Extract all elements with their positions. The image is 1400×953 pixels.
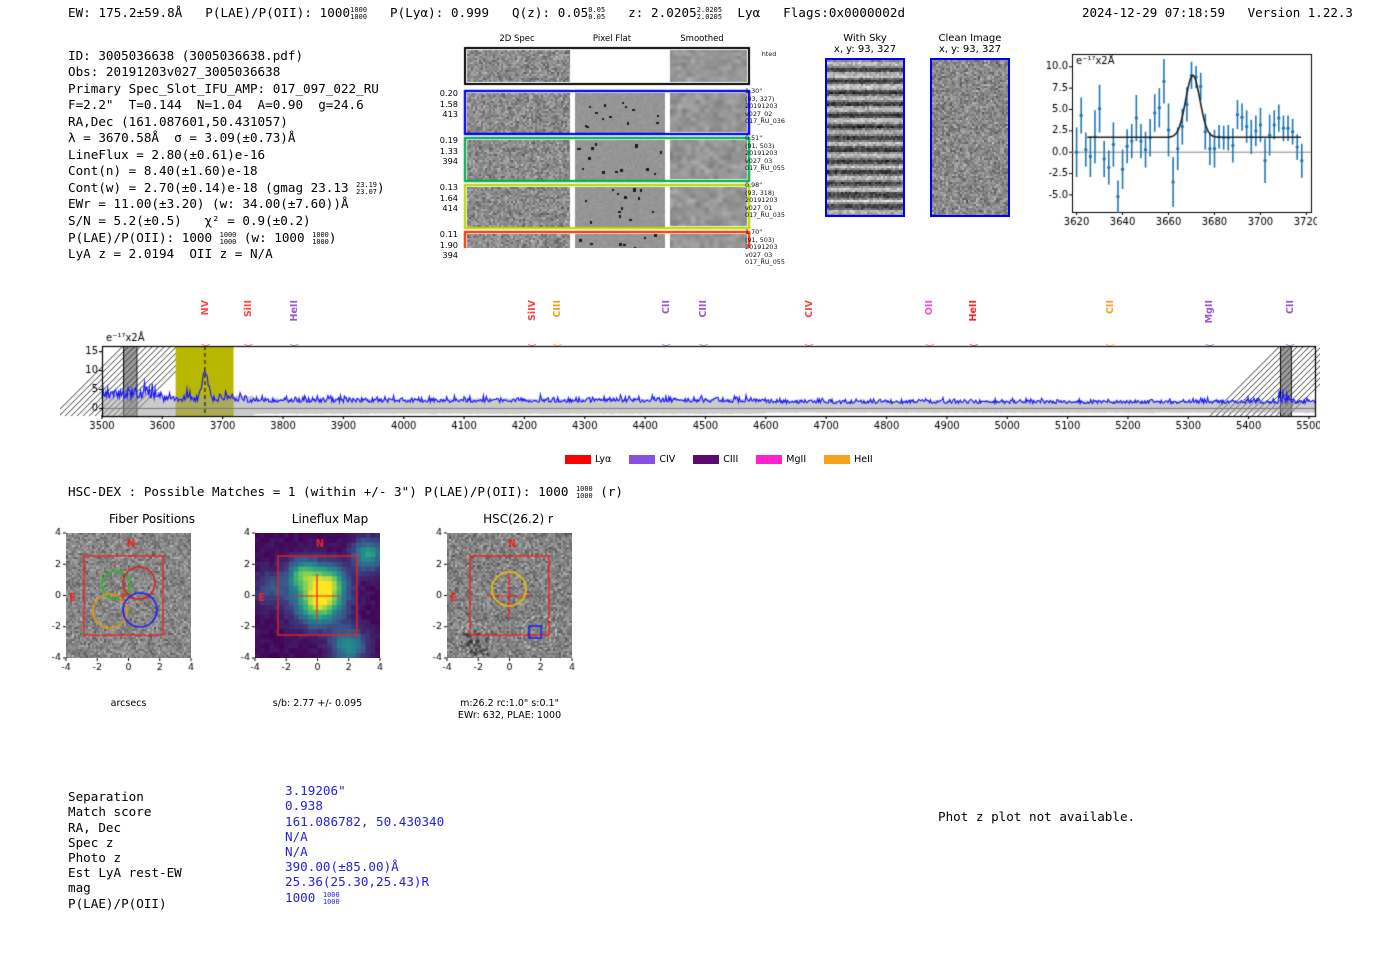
hscdex-post: (r) — [593, 484, 623, 499]
match-label-1: Match score — [68, 804, 151, 819]
info-line-7: Cont(n) = 8.40(±1.60)e-18 — [68, 163, 258, 178]
emission-bracket-5: ⏝ — [662, 336, 671, 346]
row-2-numbers: 0.13 1.64 414 — [418, 182, 458, 214]
lineflux-map-caption: s/b: 2.77 +/- 0.095 — [255, 698, 380, 709]
header-z-fraction: 2.02052.0205 — [697, 7, 722, 21]
fiber-positions-caption: arcsecs — [66, 698, 191, 709]
header-summary-line: EW: 175.2±59.8Å P(LAE)/P(OII): 100010001… — [68, 5, 905, 21]
detection-info-block: ID: 3005036638 (3005036638.pdf) Obs: 201… — [68, 31, 385, 263]
match-value-5: 390.00(±85.00)Å — [285, 859, 399, 874]
match-label-5: Est LyA rest-EW — [68, 865, 182, 880]
match-label-6: mag — [68, 880, 91, 895]
emission-bracket-3: ⏝ — [528, 336, 537, 346]
row-0-meta: 1.30" (93, 327) 20191203 v027_02 017_RU_… — [745, 88, 785, 126]
hscdex-summary: HSC-DEX : Possible Matches = 1 (within +… — [68, 484, 623, 500]
legend-item-lyα: Lyα — [565, 449, 611, 468]
header-qz-fraction: 0.050.05 — [588, 7, 605, 21]
legend-item-mgii: MgII — [756, 449, 806, 468]
spec2d-images — [462, 44, 762, 248]
emission-label-siiv-3: SiIV — [527, 300, 538, 321]
header-plya: P(Lyα): 0.999 — [390, 5, 489, 20]
emission-label-mgii-11: MgII — [1204, 300, 1215, 323]
emission-bracket-8: ⏝ — [925, 336, 934, 346]
header-ew: EW: 175.2±59.8Å — [68, 5, 182, 20]
header-plae-fraction: 10001000 — [350, 7, 367, 21]
legend-label-ciii: CIII — [723, 454, 738, 465]
legend-item-heii: HeII — [824, 449, 873, 468]
match-label-7: P(LAE)/P(OII) — [68, 896, 167, 911]
match-value-7: 1000 10001000 — [285, 890, 340, 905]
emission-label-ciii-6: CIII — [698, 300, 709, 318]
info-line-5: λ = 3670.58Å σ = 3.09(±0.73)Å — [68, 130, 295, 145]
with-sky-title: With Sky — [820, 33, 910, 44]
info-line-1: Obs: 20191203v027_3005036638 — [68, 64, 280, 79]
info-plae-fraction-1: 10001000 — [220, 232, 237, 246]
emission-label-oii-8: OII — [924, 300, 935, 315]
emission-bracket-2: ⏝ — [290, 336, 299, 346]
match-label-0: Separation — [68, 789, 144, 804]
match-value-4: N/A — [285, 844, 308, 859]
legend-swatch-civ — [629, 455, 655, 464]
hsc-r-caption: m:26.2 rc:1.0" s:0.1" — [447, 698, 572, 709]
emission-bracket-9: ⏝ — [969, 336, 978, 346]
legend-swatch-ciii — [693, 455, 719, 464]
clean-image-image — [930, 58, 1010, 217]
cutout-axes — [50, 512, 620, 712]
with-sky-image — [825, 58, 905, 217]
match-value-0: 3.19206" — [285, 783, 346, 798]
emission-bracket-12: ⏝ — [1286, 336, 1295, 346]
match-label-4: Photo z — [68, 850, 121, 865]
header-version: Version 1.22.3 — [1248, 5, 1353, 20]
row-0-numbers: 0.20 1.58 413 — [418, 88, 458, 120]
match-value-1: 0.938 — [285, 798, 323, 813]
header-flags: Flags:0x0000002d — [783, 5, 905, 20]
header-qz-label: Q(z): 0.05 — [512, 5, 588, 20]
info-sn: S/N = 5.2(±0.5) χ² = 0.9(±0.2) — [68, 213, 311, 228]
spec2d-panel-group: 2D Spec Pixel Flat Smoothed Weighted Sum — [462, 34, 762, 248]
with-sky-cutout: With Sky x, y: 93, 327 — [820, 33, 910, 217]
emission-label-cii-10: CII — [1105, 300, 1116, 314]
emission-line-zoom-canvas — [1032, 48, 1317, 238]
match-table-values: 3.19206" 0.938 161.086782, 50.430340 N/A… — [285, 768, 444, 906]
match-label-2: RA, Dec — [68, 820, 121, 835]
legend-swatch-lyα — [565, 455, 591, 464]
emission-bracket-0: ⏝ — [201, 336, 210, 346]
hscdex-pre: HSC-DEX : Possible Matches = 1 (within +… — [68, 484, 576, 499]
info-cont-w: Cont(w) = 2.70(±0.14)e-18 (gmag 23.13 23… — [68, 180, 385, 195]
emission-bracket-4: ⏝ — [553, 336, 562, 346]
photz-message: Phot z plot not available. — [938, 809, 1135, 824]
row-2-meta: 0.98" (93, 318) 20191203 v027_01 017_RU_… — [745, 182, 785, 220]
info-ewr: EWr = 11.00(±3.20) (w: 34.00(±7.60))Å — [68, 196, 349, 211]
clean-image-title: Clean Image — [925, 33, 1015, 44]
emission-label-heii-2: HeII — [289, 300, 300, 321]
info-line-3: F=2.2" T=0.144 N=1.04 A=0.90 g=24.6 — [68, 97, 364, 112]
clean-image-xy: x, y: 93, 327 — [925, 44, 1015, 55]
emission-label-cii-5: CII — [661, 300, 672, 314]
emission-bracket-11: ⏝ — [1205, 336, 1214, 346]
spec2d-col-title-smoothed: Smoothed — [647, 34, 757, 44]
header-plae-label: P(LAE)/P(OII): 1000 — [205, 5, 350, 20]
emission-bracket-7: ⏝ — [805, 336, 814, 346]
legend-swatch-heii — [824, 455, 850, 464]
match-label-3: Spec z — [68, 835, 114, 850]
emission-bracket-6: ⏝ — [699, 336, 708, 346]
full-spectrum-plot: NV⏝SiII⏝HeII⏝SiIV⏝CIII⏝CII⏝CIII⏝CIV⏝OII⏝… — [60, 300, 1320, 454]
hsc-r-caption-2: EWr: 632, PLAE: 1000 — [447, 710, 572, 721]
info-plae: P(LAE)/P(OII): 1000 10001000 (w: 1000 10… — [68, 230, 336, 245]
row-1-meta: 0.51" (91, 503) 20191203 v027_03 017_RU_… — [745, 135, 785, 173]
row-3-meta: 1.70" (91, 503) 20191203 v027_03 017_RU_… — [745, 229, 785, 267]
emission-bracket-1: ⏝ — [244, 336, 253, 346]
info-line-4: RA,Dec (161.087601,50.431057) — [68, 114, 288, 129]
emission-label-cii-12: CII — [1285, 300, 1296, 314]
legend-item-civ: CIV — [629, 449, 675, 468]
header-z-label: z: 2.0205 — [628, 5, 697, 20]
spec2d-col-title-2dspec: 2D Spec — [462, 34, 572, 44]
match-plae-fraction: 10001000 — [323, 892, 340, 906]
emission-label-siii-1: SiII — [243, 300, 254, 317]
match-table-labels: Separation Match score RA, Dec Spec z Ph… — [68, 774, 182, 911]
legend-label-heii: HeII — [854, 454, 873, 465]
emission-label-civ-7: CIV — [804, 300, 815, 318]
info-line-0: ID: 3005036638 (3005036638.pdf) — [68, 48, 303, 63]
clean-image-cutout: Clean Image x, y: 93, 327 — [925, 33, 1015, 217]
legend-swatch-mgii — [756, 455, 782, 464]
legend-label-civ: CIV — [659, 454, 675, 465]
spectrum-legend: LyαCIVCIIIMgIIHeII — [565, 449, 891, 468]
match-value-2: 161.086782, 50.430340 — [285, 814, 444, 829]
legend-label-mgii: MgII — [786, 454, 806, 465]
emission-line-labels: NV⏝SiII⏝HeII⏝SiIV⏝CIII⏝CII⏝CIII⏝CIV⏝OII⏝… — [60, 300, 1320, 360]
header-datetime: 2024-12-29 07:18:59 — [1082, 5, 1225, 20]
legend-item-ciii: CIII — [693, 449, 738, 468]
header-timestamp-version: 2024-12-29 07:18:59 Version 1.22.3 — [1082, 5, 1353, 20]
emission-label-nv-0: NV — [200, 300, 211, 315]
info-redshift: LyA z = 2.0194 OII z = N/A — [68, 246, 273, 261]
info-line-6: LineFlux = 2.80(±0.61)e-16 — [68, 147, 265, 162]
emission-label-ciii-4: CIII — [552, 300, 563, 318]
with-sky-xy: x, y: 93, 327 — [820, 44, 910, 55]
info-line-2: Primary Spec_Slot_IFU_AMP: 017_097_022_R… — [68, 81, 379, 96]
emission-bracket-10: ⏝ — [1106, 336, 1115, 346]
header-line-name: Lyα — [737, 5, 760, 20]
emission-line-zoom-plot — [1032, 48, 1317, 242]
match-value-3: N/A — [285, 829, 308, 844]
match-value-6: 25.36(25.30,25.43)R — [285, 874, 429, 889]
row-3-numbers: 0.11 1.90 394 — [418, 229, 458, 261]
emission-label-heii-9: HeII — [968, 300, 979, 321]
info-plae-fraction-2: 10001000 — [312, 232, 329, 246]
hscdex-fraction: 10001000 — [576, 486, 593, 500]
legend-label-lyα: Lyα — [595, 454, 611, 465]
row-1-numbers: 0.19 1.33 394 — [418, 135, 458, 167]
gmag-fraction: 23.1923.07 — [356, 182, 377, 196]
